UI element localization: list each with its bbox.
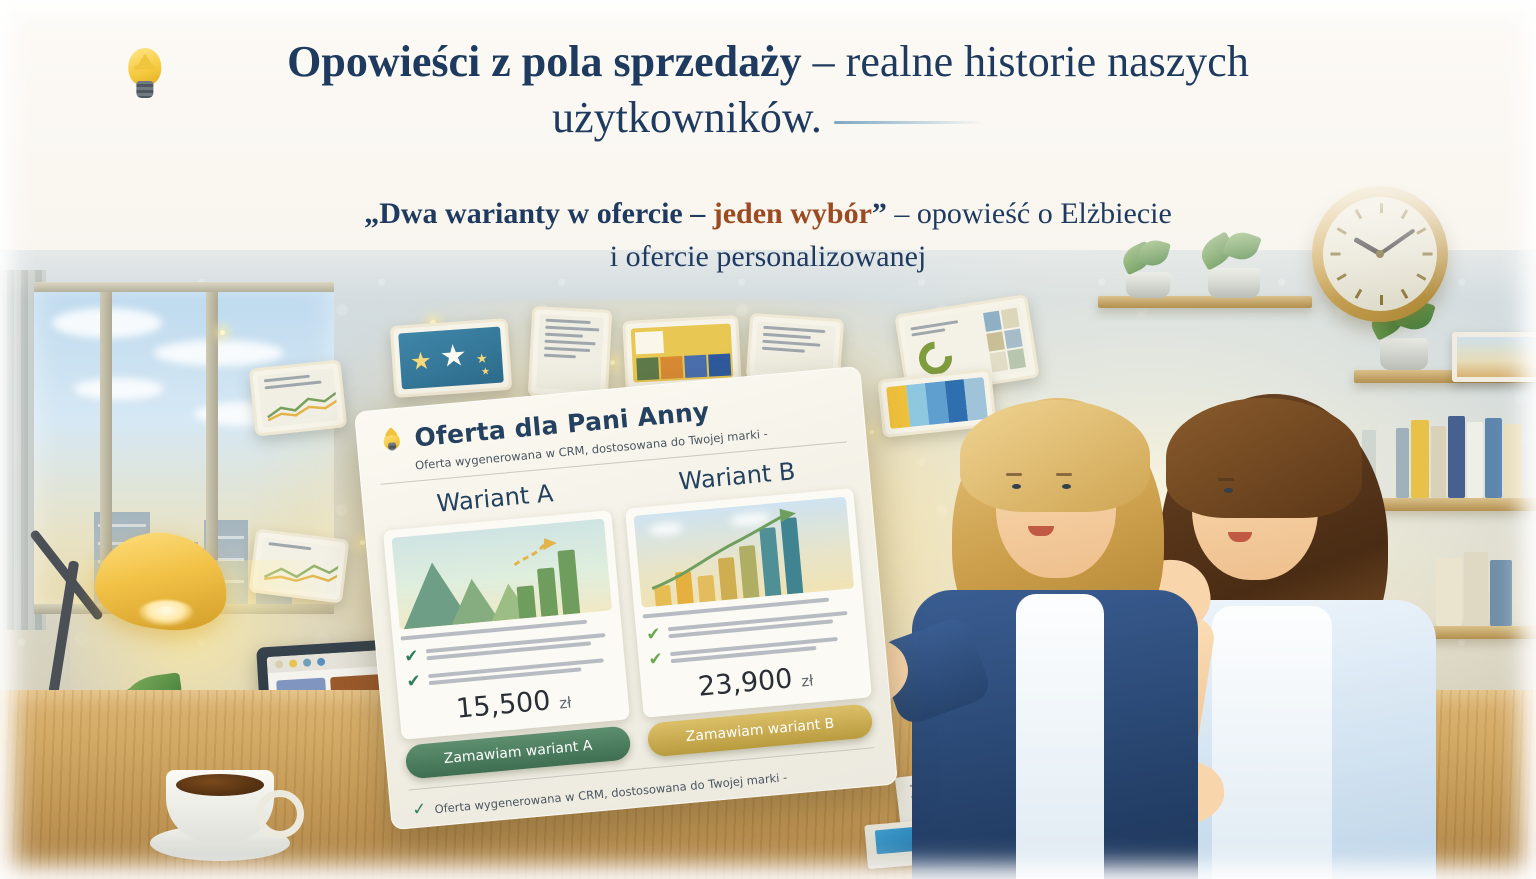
- clock-face: [1323, 197, 1437, 311]
- shelf-top-left: [1098, 296, 1312, 308]
- shelf-plant-pot-2: [1208, 268, 1260, 298]
- variant-a[interactable]: Wariant A: [380, 474, 634, 780]
- lightbulb-icon: [377, 423, 406, 455]
- chart-card: [249, 359, 348, 436]
- clock-minute-hand: [1379, 228, 1416, 255]
- offer-card[interactable]: Oferta dla Pani Anny Oferta wygenerowana…: [354, 366, 898, 830]
- review-stars-card: ★ ★ ★ ★: [390, 318, 513, 398]
- cup-handle: [256, 790, 304, 838]
- framed-picture: [1452, 332, 1536, 382]
- check-icon: ✔: [406, 672, 422, 690]
- check-icon: ✓: [412, 801, 428, 819]
- lamp-bulb: [138, 600, 194, 626]
- check-icon: ✔: [646, 625, 662, 643]
- illustration-canvas: ★ ★ ★ ★: [0, 0, 1536, 879]
- variants-row: Wariant A: [362, 450, 894, 781]
- office-scene: ★ ★ ★ ★: [0, 0, 1536, 879]
- document-card: [528, 306, 613, 400]
- check-icon: ✔: [404, 647, 420, 665]
- shelf-right-low: [1420, 626, 1536, 639]
- coffee-liquid: [176, 774, 264, 796]
- shelf-plant-pot-3: [1380, 338, 1428, 370]
- variant-a-chart: [392, 519, 612, 630]
- variant-b[interactable]: Wariant B: [622, 452, 876, 758]
- check-icon: ✔: [648, 650, 664, 668]
- wall-clock: [1312, 186, 1448, 322]
- shelf-plant-pot: [1126, 272, 1170, 298]
- variant-b-chart: [634, 497, 854, 608]
